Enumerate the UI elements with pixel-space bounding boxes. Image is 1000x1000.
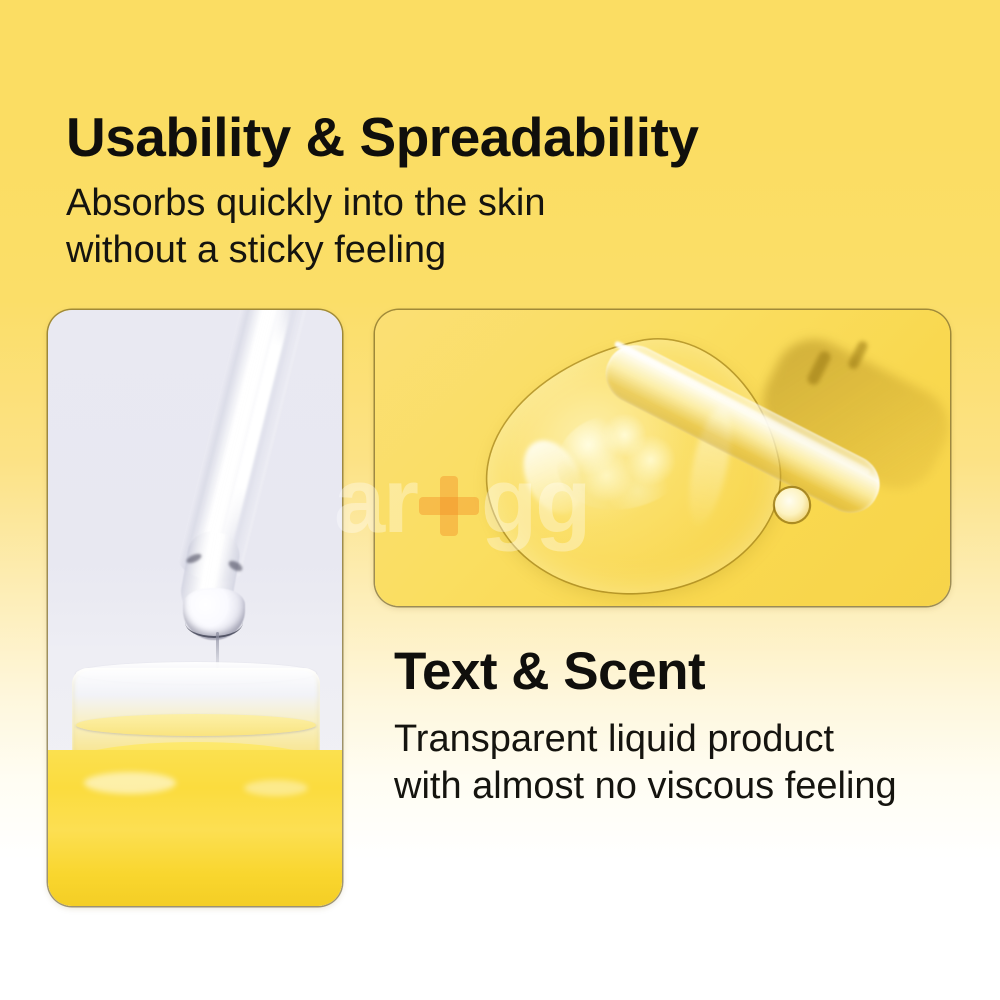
usability-subtext-line-1: Absorbs quickly into the skin (66, 180, 946, 227)
usability-text-block: Usability & Spreadability Absorbs quickl… (66, 106, 946, 274)
usability-subtext: Absorbs quickly into the skin without a … (66, 180, 946, 274)
text-scent-subtext: Transparent liquid product with almost n… (394, 716, 974, 810)
text-scent-subtext-line-2: with almost no viscous feeling (394, 763, 974, 810)
bottle-neck-ring-lower (76, 714, 316, 736)
usability-subtext-line-2: without a sticky feeling (66, 227, 946, 274)
section-title-text-scent: Text & Scent (394, 642, 974, 702)
page-title: Usability & Spreadability (66, 106, 946, 168)
watermark-text-before: ar (334, 450, 417, 552)
text-scent-text-block: Text & Scent Transparent liquid product … (394, 642, 974, 810)
bottle-gloss-left (84, 772, 176, 794)
air-bubble-icon (775, 488, 809, 522)
infographic-canvas: Usability & Spreadability Absorbs quickl… (0, 0, 1000, 1000)
bottle-gloss-right (244, 780, 308, 796)
text-scent-subtext-line-1: Transparent liquid product (394, 716, 974, 763)
watermark-text-after: gg (481, 450, 589, 552)
plus-cross-icon (415, 472, 483, 540)
photo-card-dropper-bottle (48, 310, 342, 906)
serum-droplet-rim (185, 606, 243, 638)
brand-watermark: argg (334, 455, 589, 547)
bottle-body-graphic (48, 750, 342, 906)
